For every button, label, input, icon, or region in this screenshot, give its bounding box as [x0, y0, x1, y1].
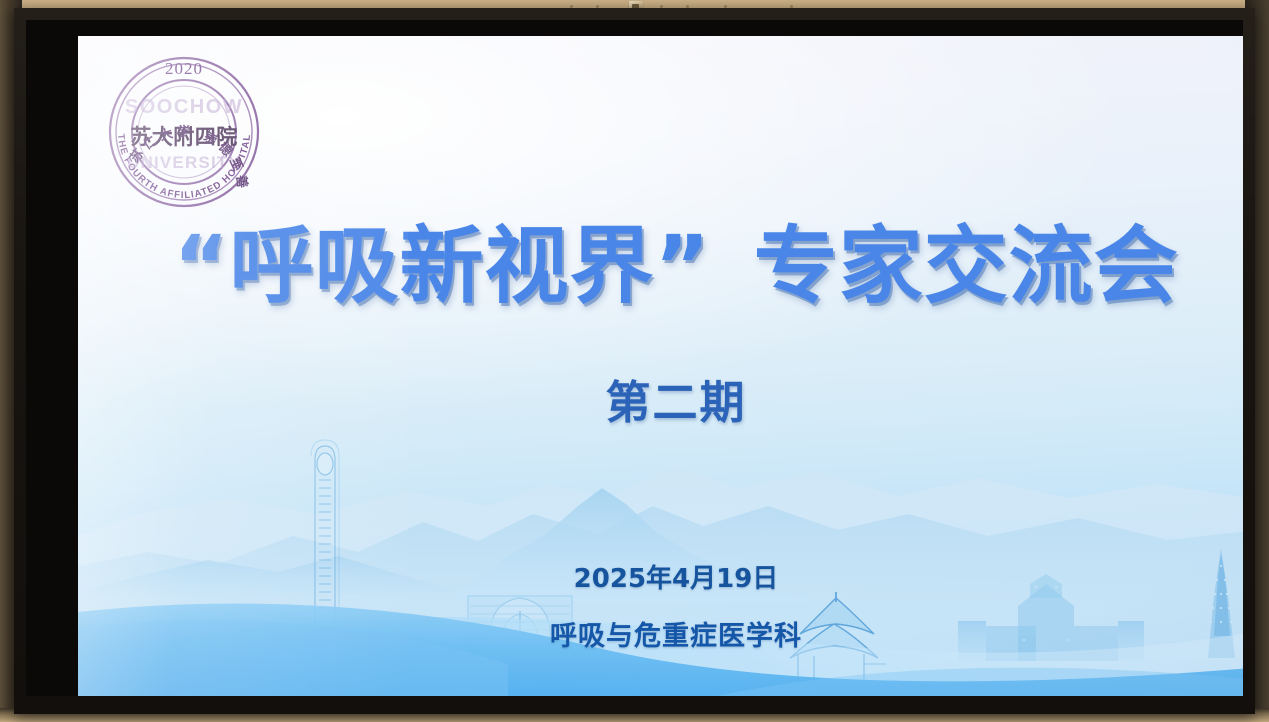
presentation-slide[interactable]: 2020 THE FOURTH AFFILIATED HOSPITAL SOOC…	[78, 36, 1243, 696]
display-bezel: 2020 THE FOURTH AFFILIATED HOSPITAL SOOC…	[14, 8, 1255, 714]
slide-title-quoted: “呼吸新视界”	[173, 222, 710, 310]
slide-date-text: 2025年4月19日	[574, 564, 779, 594]
logo-year: 2020	[165, 59, 203, 78]
slide-department-text: 呼吸与危重症医学科	[550, 621, 802, 652]
slide-title-rest: 专家交流会	[754, 222, 1179, 310]
logo-english-inner-top: SOOCHOW	[125, 96, 243, 118]
needle-tower-landmark	[311, 440, 339, 628]
slide-title: “呼吸新视界” 专家交流会	[78, 222, 1243, 310]
display-bezel-inner: 2020 THE FOURTH AFFILIATED HOSPITAL SOOC…	[26, 20, 1243, 696]
room-background: 2020 THE FOURTH AFFILIATED HOSPITAL SOOC…	[0, 0, 1269, 722]
hospital-logo: 2020 THE FOURTH AFFILIATED HOSPITAL SOOC…	[104, 52, 264, 212]
slide-subtitle-text: 第二期	[605, 376, 746, 429]
slide-department: 呼吸与危重症医学科	[78, 614, 1243, 653]
slide-date: 2025年4月19日	[78, 558, 1243, 595]
slide-subtitle: 第二期	[78, 366, 1243, 431]
